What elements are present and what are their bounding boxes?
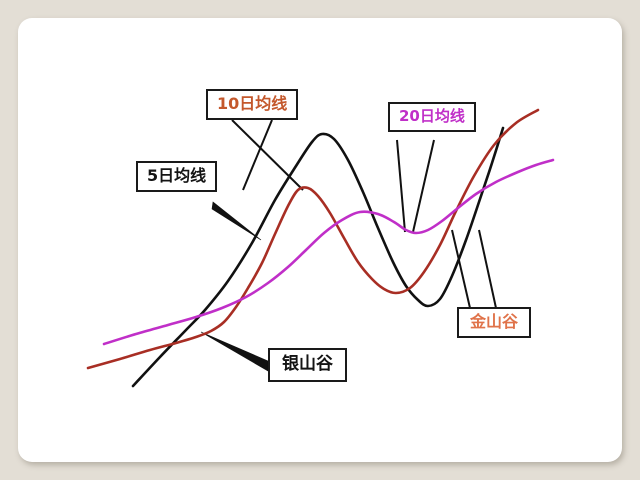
leader-ma20-b: [413, 140, 434, 232]
leader-ma5: [212, 202, 261, 240]
label-ma5-text: 5日均线: [147, 166, 206, 185]
label-ma10[interactable]: 10日均线: [206, 89, 298, 120]
label-ma5[interactable]: 5日均线: [136, 161, 217, 192]
label-ma20[interactable]: 20日均线: [388, 102, 476, 132]
leader-silver-valley: [201, 332, 268, 371]
label-golden-valley-text: 金山谷: [470, 312, 518, 331]
label-ma20-text: 20日均线: [399, 107, 465, 125]
label-silver-valley[interactable]: 银山谷: [268, 348, 347, 382]
label-silver-valley-text: 银山谷: [282, 354, 333, 374]
label-ma10-text: 10日均线: [217, 94, 287, 113]
label-golden-valley[interactable]: 金山谷: [457, 307, 531, 338]
moving-average-chart: [0, 0, 640, 480]
leader-ma20-a: [397, 140, 405, 232]
diagram-root: 5日均线 10日均线 20日均线 银山谷 金山谷: [0, 0, 640, 480]
leader-golden-valley-b: [479, 230, 496, 308]
